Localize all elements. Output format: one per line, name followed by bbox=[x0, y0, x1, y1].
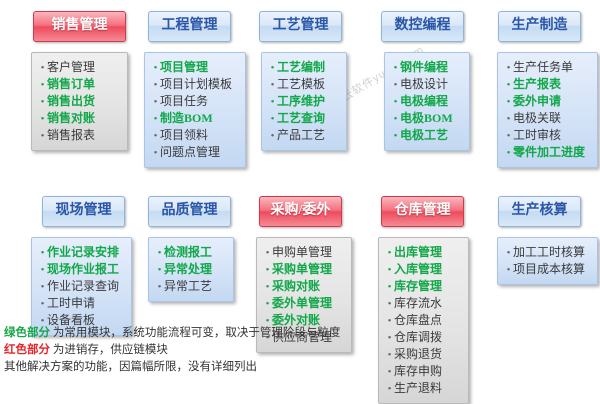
menu-item[interactable]: •生产任务单 bbox=[504, 59, 593, 76]
menu-item-label: 产品工艺 bbox=[277, 127, 325, 143]
menu-item[interactable]: •项目成本核算 bbox=[504, 261, 593, 278]
menu-item-label: 工时审核 bbox=[513, 127, 561, 143]
menu-item[interactable]: •申购单管理 bbox=[263, 244, 347, 261]
card-header-2[interactable]: 工艺管理 bbox=[259, 11, 342, 42]
bullet-icon: • bbox=[268, 94, 277, 110]
menu-item-label: 生产退料 bbox=[394, 380, 442, 396]
menu-item-label: 工序维护 bbox=[277, 93, 325, 109]
menu-item[interactable]: •检测报工 bbox=[155, 244, 229, 261]
menu-item[interactable]: •工艺模板 bbox=[268, 76, 342, 93]
bullet-icon: • bbox=[151, 94, 160, 110]
menu-item[interactable]: •电极关联 bbox=[504, 110, 593, 127]
bullet-icon: • bbox=[38, 245, 47, 261]
menu-item[interactable]: •异常处理 bbox=[155, 261, 229, 278]
card-header-7[interactable]: 采购/委外 bbox=[259, 196, 342, 227]
menu-item[interactable]: •零件加工进度 bbox=[504, 144, 593, 161]
bullet-icon: • bbox=[385, 381, 394, 397]
bullet-icon: • bbox=[504, 111, 513, 127]
bullet-icon: • bbox=[263, 262, 272, 278]
bullet-icon: • bbox=[38, 279, 47, 295]
card-body-3: •钢件编程•电极设计•电极编程•电极BOM•电极工艺 bbox=[384, 52, 470, 151]
bullet-icon: • bbox=[151, 111, 160, 127]
menu-item[interactable]: •电极BOM bbox=[391, 110, 465, 127]
menu-item[interactable]: •问题点管理 bbox=[151, 144, 241, 161]
card-body-8: •出库管理•入库管理•库存管理•库存流水•仓库盘点•仓库调拨•采购退货•库存申购… bbox=[378, 237, 469, 404]
bullet-icon: • bbox=[151, 77, 160, 93]
menu-item[interactable]: •销售对账 bbox=[38, 110, 123, 127]
menu-item[interactable]: •作业记录查询 bbox=[38, 278, 127, 295]
menu-item-label: 问题点管理 bbox=[160, 144, 220, 160]
bullet-icon: • bbox=[391, 111, 400, 127]
menu-item-label: 库存流水 bbox=[394, 295, 442, 311]
menu-item-label: 作业记录安排 bbox=[47, 244, 119, 260]
bullet-icon: • bbox=[38, 111, 47, 127]
menu-item-label: 出库管理 bbox=[394, 244, 442, 260]
legend-green-keyword: 绿色部分 bbox=[4, 327, 50, 339]
bullet-icon: • bbox=[38, 94, 47, 110]
bullet-icon: • bbox=[504, 262, 513, 278]
legend-block: 绿色部分 为常用模块，系统功能流程可变，取决于管理阶段与粒度 红色部分 为进销存… bbox=[4, 325, 474, 376]
menu-item-label: 项目计划模板 bbox=[160, 76, 232, 92]
menu-item-label: 项目成本核算 bbox=[513, 261, 585, 277]
menu-item[interactable]: •电极工艺 bbox=[391, 127, 465, 144]
bullet-icon: • bbox=[391, 77, 400, 93]
menu-item[interactable]: •项目管理 bbox=[151, 59, 241, 76]
menu-item-label: 生产报表 bbox=[513, 76, 561, 92]
bullet-icon: • bbox=[391, 94, 400, 110]
menu-item-label: 库存管理 bbox=[394, 278, 442, 294]
menu-item-label: 销售出货 bbox=[47, 93, 95, 109]
menu-item-label: 工时申请 bbox=[47, 295, 95, 311]
bullet-icon: • bbox=[268, 111, 277, 127]
card-body-1: •项目管理•项目计划模板•项目任务•制造BOM•项目领料•问题点管理 bbox=[144, 52, 246, 168]
card-header-6[interactable]: 品质管理 bbox=[148, 196, 231, 227]
bullet-icon: • bbox=[155, 279, 164, 295]
legend-red-text: 为进销存，供应链模块 bbox=[53, 344, 168, 356]
menu-item[interactable]: •出库管理 bbox=[385, 244, 464, 261]
menu-item[interactable]: •工时申请 bbox=[38, 295, 127, 312]
bullet-icon: • bbox=[504, 145, 513, 161]
card-header-8[interactable]: 仓库管理 bbox=[381, 196, 464, 227]
bullet-icon: • bbox=[504, 128, 513, 144]
menu-item-label: 客户管理 bbox=[47, 59, 95, 75]
bullet-icon: • bbox=[38, 296, 47, 312]
menu-item[interactable]: •异常工艺 bbox=[155, 278, 229, 295]
legend-row-note: 其他解决方案的功能，因篇幅所限，没有详细列出 bbox=[4, 359, 474, 376]
menu-item-label: 销售订单 bbox=[47, 76, 95, 92]
bullet-icon: • bbox=[391, 60, 400, 76]
bullet-icon: • bbox=[155, 262, 164, 278]
menu-item-label: 电极工艺 bbox=[400, 127, 448, 143]
card-body-6: •检测报工•异常处理•异常工艺 bbox=[148, 237, 234, 302]
menu-item-label: 制造BOM bbox=[160, 110, 213, 126]
bullet-icon: • bbox=[385, 296, 394, 312]
menu-item[interactable]: •生产退料 bbox=[385, 380, 464, 397]
menu-item[interactable]: •项目领料 bbox=[151, 127, 241, 144]
menu-item[interactable]: •电极编程 bbox=[391, 93, 465, 110]
menu-item-label: 加工工时核算 bbox=[513, 244, 585, 260]
menu-item-label: 销售报表 bbox=[47, 127, 95, 143]
menu-item-label: 零件加工进度 bbox=[513, 144, 585, 160]
menu-item[interactable]: •加工工时核算 bbox=[504, 244, 593, 261]
menu-item[interactable]: •制造BOM bbox=[151, 110, 241, 127]
menu-item-label: 异常处理 bbox=[164, 261, 212, 277]
menu-item[interactable]: •库存管理 bbox=[385, 278, 464, 295]
bullet-icon: • bbox=[151, 60, 160, 76]
menu-item-label: 电极编程 bbox=[400, 93, 448, 109]
menu-item-label: 销售对账 bbox=[47, 110, 95, 126]
menu-item[interactable]: •工艺查询 bbox=[268, 110, 342, 127]
bullet-icon: • bbox=[38, 128, 47, 144]
menu-item-label: 采购单管理 bbox=[272, 261, 332, 277]
menu-item-label: 申购单管理 bbox=[272, 244, 332, 260]
menu-item[interactable]: •产品工艺 bbox=[268, 127, 342, 144]
menu-item-label: 工艺查询 bbox=[277, 110, 325, 126]
menu-item[interactable]: •项目任务 bbox=[151, 93, 241, 110]
menu-item[interactable]: •采购对账 bbox=[263, 278, 347, 295]
menu-item[interactable]: •销售出货 bbox=[38, 93, 123, 110]
menu-item-label: 采购对账 bbox=[272, 278, 320, 294]
bullet-icon: • bbox=[263, 245, 272, 261]
bullet-icon: • bbox=[263, 296, 272, 312]
card-body-5: •作业记录安排•现场作业报工•作业记录查询•工时申请•设备看板 bbox=[31, 237, 132, 336]
card-body-4: •生产任务单•生产报表•委外申请•电极关联•工时审核•零件加工进度 bbox=[497, 52, 598, 168]
bullet-icon: • bbox=[38, 262, 47, 278]
bullet-icon: • bbox=[385, 279, 394, 295]
menu-item-label: 检测报工 bbox=[164, 244, 212, 260]
menu-item[interactable]: •工时审核 bbox=[504, 127, 593, 144]
card-header-1[interactable]: 工程管理 bbox=[148, 11, 231, 42]
bullet-icon: • bbox=[268, 128, 277, 144]
menu-item[interactable]: •入库管理 bbox=[385, 261, 464, 278]
bullet-icon: • bbox=[268, 77, 277, 93]
menu-item[interactable]: •采购单管理 bbox=[263, 261, 347, 278]
bullet-icon: • bbox=[504, 77, 513, 93]
bullet-icon: • bbox=[38, 60, 47, 76]
menu-item-label: 委外申请 bbox=[513, 93, 561, 109]
menu-item-label: 钢件编程 bbox=[400, 59, 448, 75]
menu-item-label: 作业记录查询 bbox=[47, 278, 119, 294]
card-body-2: •工艺编制•工艺模板•工序维护•工艺查询•产品工艺 bbox=[261, 52, 347, 151]
menu-item-label: 工艺模板 bbox=[277, 76, 325, 92]
menu-item[interactable]: •客户管理 bbox=[38, 59, 123, 76]
bullet-icon: • bbox=[385, 245, 394, 261]
card-header-9[interactable]: 生产核算 bbox=[498, 196, 581, 227]
menu-item-label: 现场作业报工 bbox=[47, 261, 119, 277]
menu-item[interactable]: •生产报表 bbox=[504, 76, 593, 93]
menu-item-label: 电极设计 bbox=[400, 76, 448, 92]
menu-item[interactable]: •工艺编制 bbox=[268, 59, 342, 76]
bullet-icon: • bbox=[385, 262, 394, 278]
bullet-icon: • bbox=[504, 60, 513, 76]
menu-item[interactable]: •钢件编程 bbox=[391, 59, 465, 76]
card-header-0[interactable]: 销售管理 bbox=[33, 11, 126, 42]
diagram-canvas: 云易云软件yunyi.com 销售管理•客户管理•销售订单•销售出货•销售对账•… bbox=[0, 0, 600, 400]
bullet-icon: • bbox=[155, 245, 164, 261]
bullet-icon: • bbox=[263, 279, 272, 295]
menu-item[interactable]: •工序维护 bbox=[268, 93, 342, 110]
menu-item[interactable]: •销售报表 bbox=[38, 127, 123, 144]
menu-item[interactable]: •作业记录安排 bbox=[38, 244, 127, 261]
bullet-icon: • bbox=[151, 128, 160, 144]
card-header-4[interactable]: 生产制造 bbox=[498, 11, 581, 42]
card-body-0: •客户管理•销售订单•销售出货•销售对账•销售报表 bbox=[31, 52, 128, 151]
bullet-icon: • bbox=[504, 245, 513, 261]
bullet-icon: • bbox=[391, 128, 400, 144]
card-header-5[interactable]: 现场管理 bbox=[42, 196, 125, 227]
menu-item-label: 项目管理 bbox=[160, 59, 208, 75]
legend-green-text: 为常用模块，系统功能流程可变，取决于管理阶段与粒度 bbox=[53, 327, 341, 339]
menu-item[interactable]: •委外申请 bbox=[504, 93, 593, 110]
card-header-3[interactable]: 数控编程 bbox=[381, 11, 464, 42]
bullet-icon: • bbox=[268, 60, 277, 76]
menu-item[interactable]: •电极设计 bbox=[391, 76, 465, 93]
menu-item-label: 生产任务单 bbox=[513, 59, 573, 75]
bullet-icon: • bbox=[151, 145, 160, 161]
menu-item-label: 异常工艺 bbox=[164, 278, 212, 294]
menu-item-label: 项目任务 bbox=[160, 93, 208, 109]
bullet-icon: • bbox=[504, 94, 513, 110]
menu-item-label: 项目领料 bbox=[160, 127, 208, 143]
menu-item-label: 入库管理 bbox=[394, 261, 442, 277]
menu-item[interactable]: •销售订单 bbox=[38, 76, 123, 93]
menu-item-label: 电极关联 bbox=[513, 110, 561, 126]
menu-item-label: 工艺编制 bbox=[277, 59, 325, 75]
menu-item-label: 委外单管理 bbox=[272, 295, 332, 311]
bullet-icon: • bbox=[38, 77, 47, 93]
legend-red-keyword: 红色部分 bbox=[4, 344, 50, 356]
menu-item[interactable]: •项目计划模板 bbox=[151, 76, 241, 93]
menu-item-label: 电极BOM bbox=[400, 110, 453, 126]
menu-item[interactable]: •委外单管理 bbox=[263, 295, 347, 312]
legend-row-red: 红色部分 为进销存，供应链模块 bbox=[4, 342, 474, 359]
menu-item[interactable]: •库存流水 bbox=[385, 295, 464, 312]
menu-item[interactable]: •现场作业报工 bbox=[38, 261, 127, 278]
legend-row-green: 绿色部分 为常用模块，系统功能流程可变，取决于管理阶段与粒度 bbox=[4, 325, 474, 342]
card-body-9: •加工工时核算•项目成本核算 bbox=[497, 237, 598, 285]
